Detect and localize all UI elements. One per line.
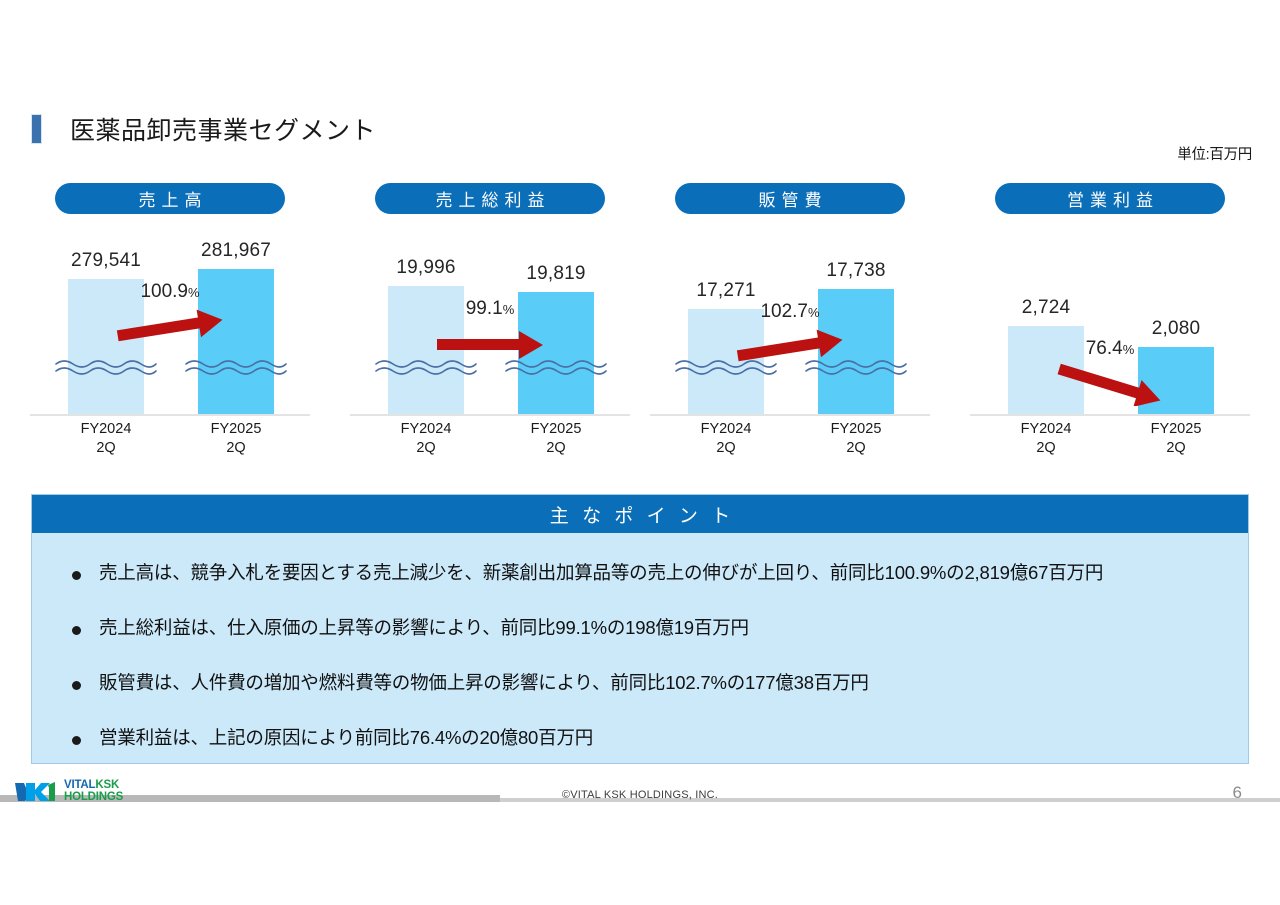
axis-labels-3: FY20242QFY20252Q — [960, 420, 1260, 466]
bar-value-label-0-0: 279,541 — [71, 250, 141, 272]
unit-label: 単位:百万円 — [1177, 143, 1252, 164]
key-points-header: 主 な ポ イ ン ト — [32, 495, 1248, 533]
chart-title-pill-2: 販管費 — [675, 183, 905, 214]
title-text: 医薬品卸売事業セグメント — [70, 111, 376, 147]
axis-label-quarter-2-1: 2Q — [801, 439, 911, 458]
axis-label-year-0-1: FY2025 — [181, 420, 291, 439]
plot-area-2: 17,27117,738102.7% — [640, 224, 940, 416]
chart-group-0: 売上高279,541281,967100.9%FY20242QFY20252Q — [20, 183, 320, 473]
change-percent-value-0: 100.9 — [140, 281, 188, 302]
trend-arrow-icon-1 — [415, 322, 565, 366]
percent-symbol-2: % — [808, 305, 820, 320]
change-indicator-3: 76.4% — [1035, 338, 1185, 406]
key-points-panel: 主 な ポ イ ン ト 売上高は、競争入札を要因とする売上減少を、新薬創出加算品… — [31, 494, 1249, 764]
bullet-icon — [72, 736, 81, 745]
page-title: 医薬品卸売事業セグメント — [31, 112, 376, 146]
bar-value-label-2-0: 17,271 — [696, 280, 755, 302]
baseline-1 — [350, 414, 630, 416]
chart-title-pill-3: 営業利益 — [995, 183, 1225, 214]
chart-group-3: 営業利益2,7242,08076.4%FY20242QFY20252Q — [960, 183, 1260, 473]
axis-labels-0: FY20242QFY20252Q — [20, 420, 320, 466]
axis-label-quarter-0-0: 2Q — [51, 439, 161, 458]
axis-label-quarter-1-0: 2Q — [371, 439, 481, 458]
key-point-item: 売上総利益は、仕入原価の上昇等の影響により、前同比99.1%の198億19百万円 — [32, 616, 1248, 641]
bullet-icon — [72, 571, 81, 580]
chart-title-pill-0: 売上高 — [55, 183, 285, 214]
baseline-0 — [30, 414, 310, 416]
change-percent-value-1: 99.1 — [466, 298, 503, 319]
axis-labels-2: FY20242QFY20252Q — [640, 420, 940, 466]
axis-label-year-1-1: FY2025 — [501, 420, 611, 439]
chart-title-pill-1: 売上総利益 — [375, 183, 605, 214]
percent-symbol-0: % — [188, 285, 200, 300]
plot-area-1: 19,99619,81999.1% — [340, 224, 640, 416]
change-percent-value-2: 102.7 — [760, 301, 808, 322]
plot-area-0: 279,541281,967100.9% — [20, 224, 320, 416]
axis-labels-1: FY20242QFY20252Q — [340, 420, 640, 466]
axis-label-1-1: FY20252Q — [501, 420, 611, 457]
baseline-3 — [970, 414, 1250, 416]
copyright-text: ©VITAL KSK HOLDINGS, INC. — [0, 789, 1280, 801]
axis-label-3-0: FY20242Q — [991, 420, 1101, 457]
key-point-item: 売上高は、競争入札を要因とする売上減少を、新薬創出加算品等の売上の伸びが上回り、… — [32, 561, 1248, 586]
slide: 医薬品卸売事業セグメント 単位:百万円 売上高279,541281,967100… — [0, 0, 1280, 905]
change-percent-value-3: 76.4 — [1086, 338, 1123, 359]
title-accent-bar — [31, 114, 42, 144]
key-point-text: 売上総利益は、仕入原価の上昇等の影響により、前同比99.1%の198億19百万円 — [99, 616, 749, 641]
bar-value-label-2-1: 17,738 — [826, 260, 885, 282]
axis-label-year-1-0: FY2024 — [371, 420, 481, 439]
baseline-2 — [650, 414, 930, 416]
bar-value-label-1-1: 19,819 — [526, 263, 585, 285]
axis-label-1-0: FY20242Q — [371, 420, 481, 457]
percent-symbol-3: % — [1123, 342, 1135, 357]
key-point-text: 販管費は、人件費の増加や燃料費等の物価上昇の影響により、前同比102.7%の17… — [99, 671, 869, 696]
key-point-item: 営業利益は、上記の原因により前同比76.4%の20億80百万円 — [32, 726, 1248, 751]
charts-container: 売上高279,541281,967100.9%FY20242QFY20252Q売… — [0, 183, 1280, 473]
axis-label-year-3-1: FY2025 — [1121, 420, 1231, 439]
axis-label-2-0: FY20242Q — [671, 420, 781, 457]
axis-label-2-1: FY20252Q — [801, 420, 911, 457]
axis-label-0-0: FY20242Q — [51, 420, 161, 457]
change-indicator-1: 99.1% — [415, 298, 565, 366]
chart-group-1: 売上総利益19,99619,81999.1%FY20242QFY20252Q — [340, 183, 640, 473]
bar-value-label-3-1: 2,080 — [1152, 318, 1201, 340]
trend-arrow-icon-3 — [1035, 362, 1185, 406]
trend-arrow-icon-2 — [715, 325, 865, 369]
change-indicator-0: 100.9% — [95, 281, 245, 349]
chart-group-2: 販管費17,27117,738102.7%FY20242QFY20252Q — [640, 183, 940, 473]
axis-label-year-0-0: FY2024 — [51, 420, 161, 439]
bar-value-label-1-0: 19,996 — [396, 257, 455, 279]
bullet-icon — [72, 681, 81, 690]
axis-label-year-3-0: FY2024 — [991, 420, 1101, 439]
axis-label-0-1: FY20252Q — [181, 420, 291, 457]
key-point-text: 営業利益は、上記の原因により前同比76.4%の20億80百万円 — [99, 726, 593, 751]
trend-arrow-icon-0 — [95, 305, 245, 349]
axis-label-quarter-2-0: 2Q — [671, 439, 781, 458]
axis-label-quarter-0-1: 2Q — [181, 439, 291, 458]
axis-label-quarter-3-1: 2Q — [1121, 439, 1231, 458]
axis-label-quarter-1-1: 2Q — [501, 439, 611, 458]
page-number: 6 — [1233, 783, 1242, 803]
axis-label-quarter-3-0: 2Q — [991, 439, 1101, 458]
bar-value-label-3-0: 2,724 — [1022, 297, 1071, 319]
key-point-text: 売上高は、競争入札を要因とする売上減少を、新薬創出加算品等の売上の伸びが上回り、… — [99, 561, 1103, 586]
key-point-item: 販管費は、人件費の増加や燃料費等の物価上昇の影響により、前同比102.7%の17… — [32, 671, 1248, 696]
bullet-icon — [72, 626, 81, 635]
axis-label-year-2-0: FY2024 — [671, 420, 781, 439]
key-points-list: 売上高は、競争入札を要因とする売上減少を、新薬創出加算品等の売上の伸びが上回り、… — [32, 533, 1248, 751]
plot-area-3: 2,7242,08076.4% — [960, 224, 1260, 416]
change-percent-2: 102.7% — [715, 301, 865, 323]
change-percent-1: 99.1% — [415, 298, 565, 320]
bar-value-label-0-1: 281,967 — [201, 240, 271, 262]
percent-symbol-1: % — [503, 302, 515, 317]
axis-label-3-1: FY20252Q — [1121, 420, 1231, 457]
change-indicator-2: 102.7% — [715, 301, 865, 369]
change-percent-0: 100.9% — [95, 281, 245, 303]
change-percent-3: 76.4% — [1035, 338, 1185, 360]
axis-label-year-2-1: FY2025 — [801, 420, 911, 439]
